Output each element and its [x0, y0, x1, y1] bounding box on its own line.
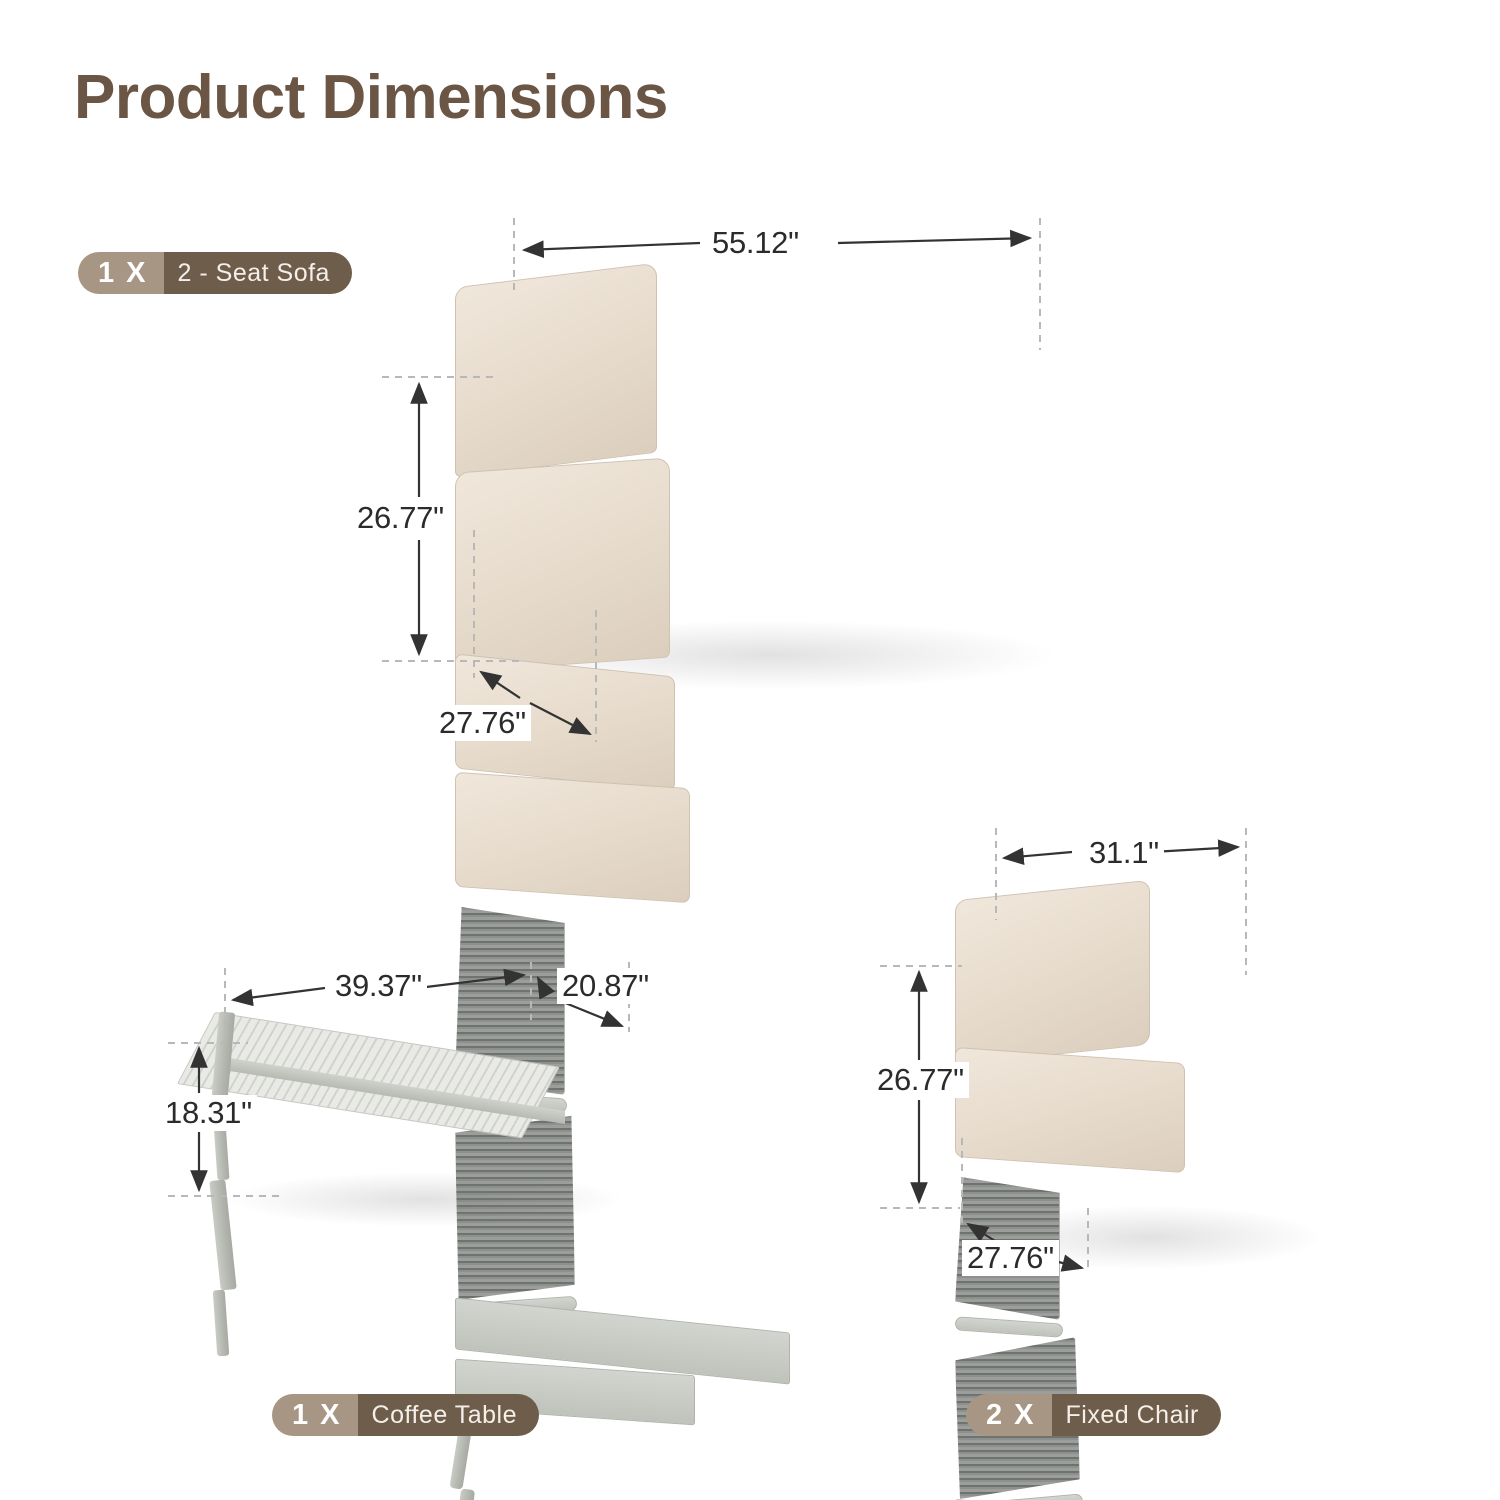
- chair-back-cushion: [955, 880, 1150, 1065]
- table-floor-shadow: [225, 1172, 625, 1227]
- sofa-back-cushion-right: [455, 457, 670, 672]
- badge-name-fixed-chair: Fixed Chair: [1052, 1394, 1221, 1436]
- coffee-table-illustration: [215, 1012, 635, 1227]
- fixed-chair-illustration: [955, 890, 1350, 1280]
- sofa-depth-label: 27.76": [434, 705, 531, 741]
- sofa-illustration: [455, 275, 1075, 695]
- chair-seat-cushion: [955, 1047, 1185, 1173]
- sofa-height-label: 26.77": [352, 500, 449, 536]
- coffee-table-depth-label: 20.87": [557, 968, 654, 1004]
- chair-arm-left-top-rail: [955, 1316, 1064, 1337]
- chair-width-label: 31.1": [1084, 835, 1164, 871]
- badge-quantity-fixed-chair: 2 X: [966, 1394, 1052, 1436]
- chair-depth-label: 27.76": [962, 1240, 1059, 1276]
- badge-name-sofa: 2 - Seat Sofa: [164, 252, 352, 294]
- page-title: Product Dimensions: [74, 62, 668, 133]
- chair-height-label: 26.77": [872, 1062, 969, 1098]
- coffee-table-height-label: 18.31": [160, 1095, 257, 1131]
- badge-2-seat-sofa[interactable]: 1 X 2 - Seat Sofa: [78, 252, 352, 294]
- coffee-table-leg-back-right: [213, 1290, 230, 1357]
- badge-name-coffee-table: Coffee Table: [358, 1394, 539, 1436]
- badge-fixed-chair[interactable]: 2 X Fixed Chair: [966, 1394, 1221, 1436]
- badge-coffee-table[interactable]: 1 X Coffee Table: [272, 1394, 539, 1436]
- sofa-leg-front-mid: [449, 1489, 475, 1500]
- badge-quantity-sofa: 1 X: [78, 252, 164, 294]
- sofa-width-label: 55.12": [707, 225, 804, 261]
- badge-quantity-coffee-table: 1 X: [272, 1394, 358, 1436]
- sofa-back-cushion-left: [455, 263, 657, 478]
- sofa-seat-cushion-right: [455, 772, 690, 903]
- coffee-table-width-label: 39.37": [330, 968, 427, 1004]
- product-dimensions-page: Product Dimensions: [0, 0, 1500, 1500]
